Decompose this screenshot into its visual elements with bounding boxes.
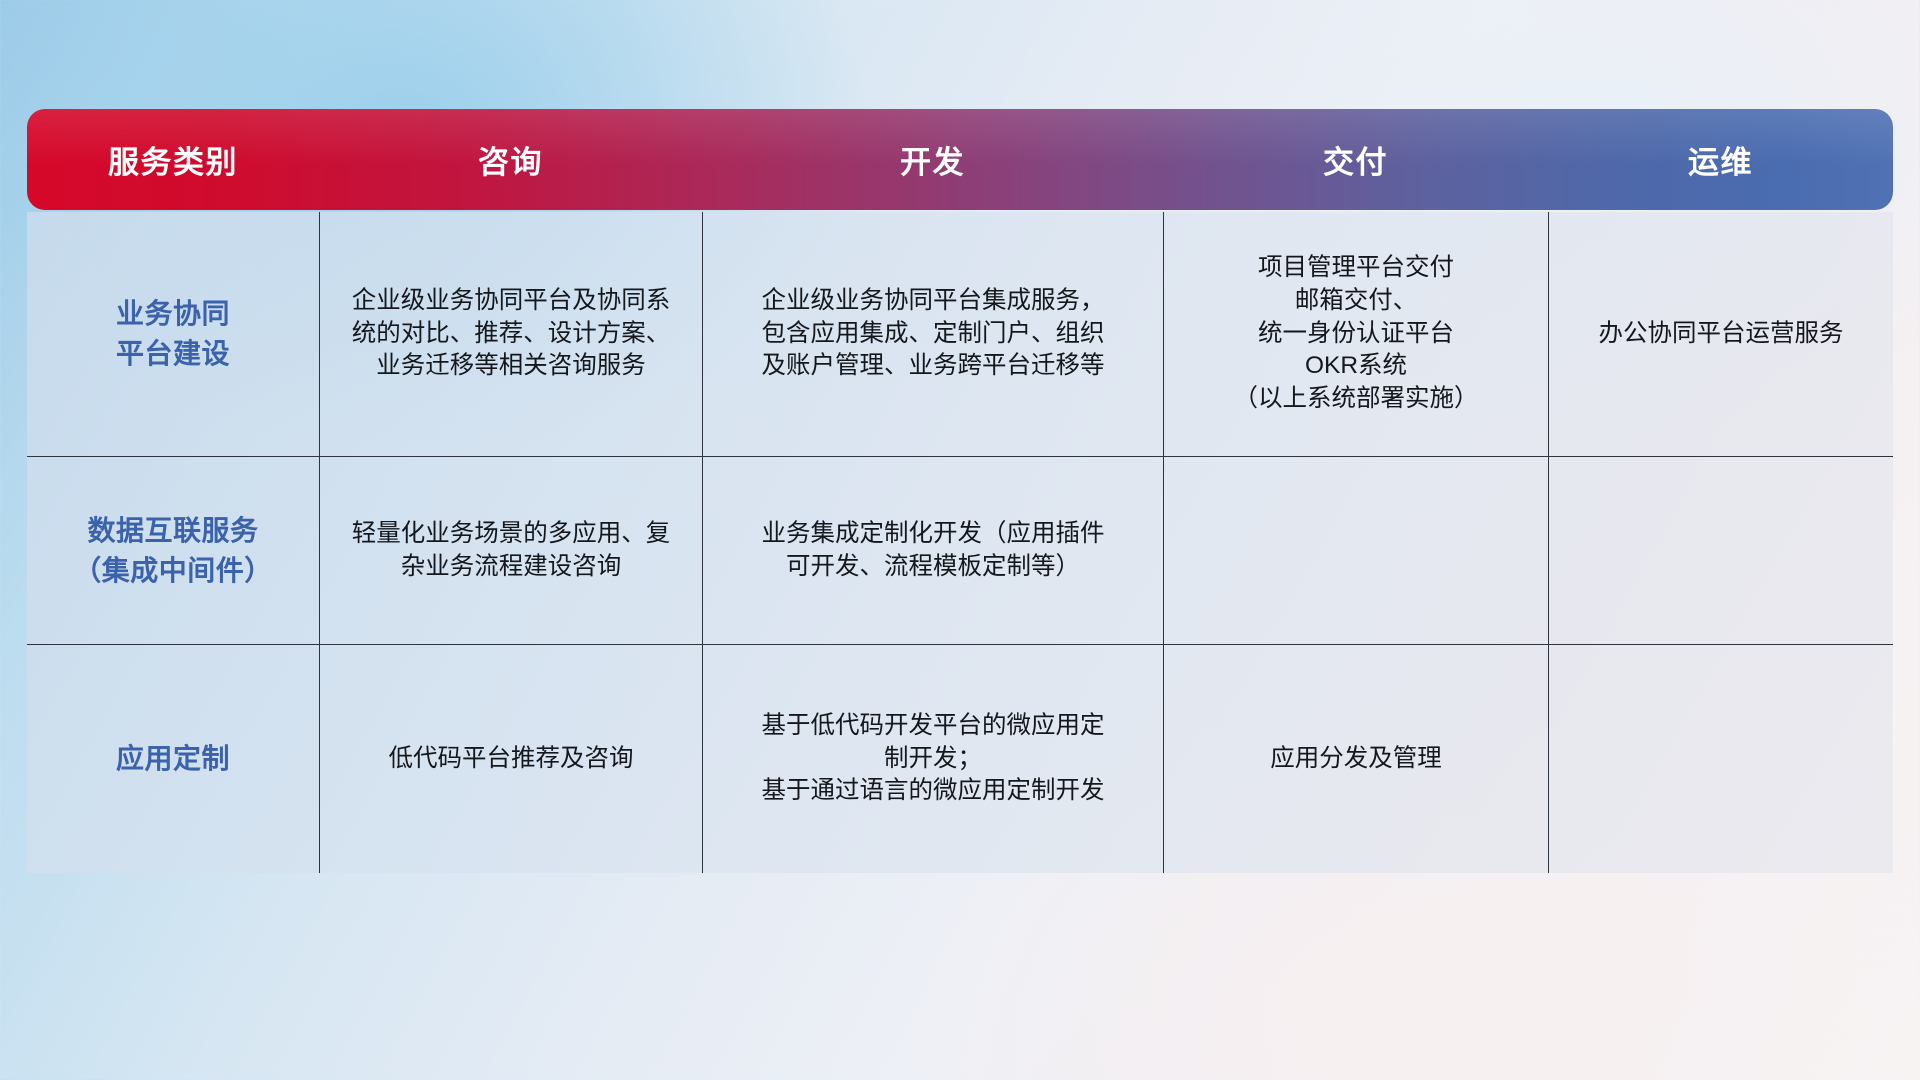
cell-development: 基于低代码开发平台的微应用定 制开发； 基于通过语言的微应用定制开发	[702, 645, 1163, 873]
cell-consulting: 低代码平台推荐及咨询	[319, 645, 702, 873]
table-row: 应用定制 低代码平台推荐及咨询 基于低代码开发平台的微应用定 制开发； 基于通过…	[27, 644, 1893, 873]
table-row: 数据互联服务 （集成中间件） 轻量化业务场景的多应用、复 杂业务流程建设咨询 业…	[27, 456, 1893, 644]
column-header-category: 服务类别	[27, 109, 319, 210]
row-category-label: 数据互联服务 （集成中间件）	[27, 457, 319, 644]
cell-consulting: 轻量化业务场景的多应用、复 杂业务流程建设咨询	[319, 457, 702, 644]
table-row: 业务协同 平台建设 企业级业务协同平台及协同系 统的对比、推荐、设计方案、 业务…	[27, 212, 1893, 456]
cell-development: 企业级业务协同平台集成服务， 包含应用集成、定制门户、组织 及账户管理、业务跨平…	[702, 212, 1163, 456]
cell-delivery: 应用分发及管理	[1163, 645, 1548, 873]
cell-delivery: 项目管理平台交付 邮箱交付、 统一身份认证平台 OKR系统 （以上系统部署实施）	[1163, 212, 1548, 456]
column-header-consulting: 咨询	[319, 109, 702, 210]
table-header-row: 服务类别 咨询 开发 交付 运维	[27, 109, 1893, 210]
column-header-operations: 运维	[1548, 109, 1893, 210]
cell-operations	[1548, 457, 1893, 644]
cell-development: 业务集成定制化开发（应用插件 可开发、流程模板定制等）	[702, 457, 1163, 644]
cell-operations: 办公协同平台运营服务	[1548, 212, 1893, 456]
service-matrix-table: 服务类别 咨询 开发 交付 运维 业务协同 平台建设 企业级业务协同平台及协同系…	[27, 109, 1893, 873]
row-category-label: 业务协同 平台建设	[27, 212, 319, 456]
column-header-development: 开发	[702, 109, 1163, 210]
cell-delivery	[1163, 457, 1548, 644]
table-body: 业务协同 平台建设 企业级业务协同平台及协同系 统的对比、推荐、设计方案、 业务…	[27, 212, 1893, 873]
cell-operations	[1548, 645, 1893, 873]
column-header-delivery: 交付	[1163, 109, 1548, 210]
row-category-label: 应用定制	[27, 645, 319, 873]
cell-consulting: 企业级业务协同平台及协同系 统的对比、推荐、设计方案、 业务迁移等相关咨询服务	[319, 212, 702, 456]
